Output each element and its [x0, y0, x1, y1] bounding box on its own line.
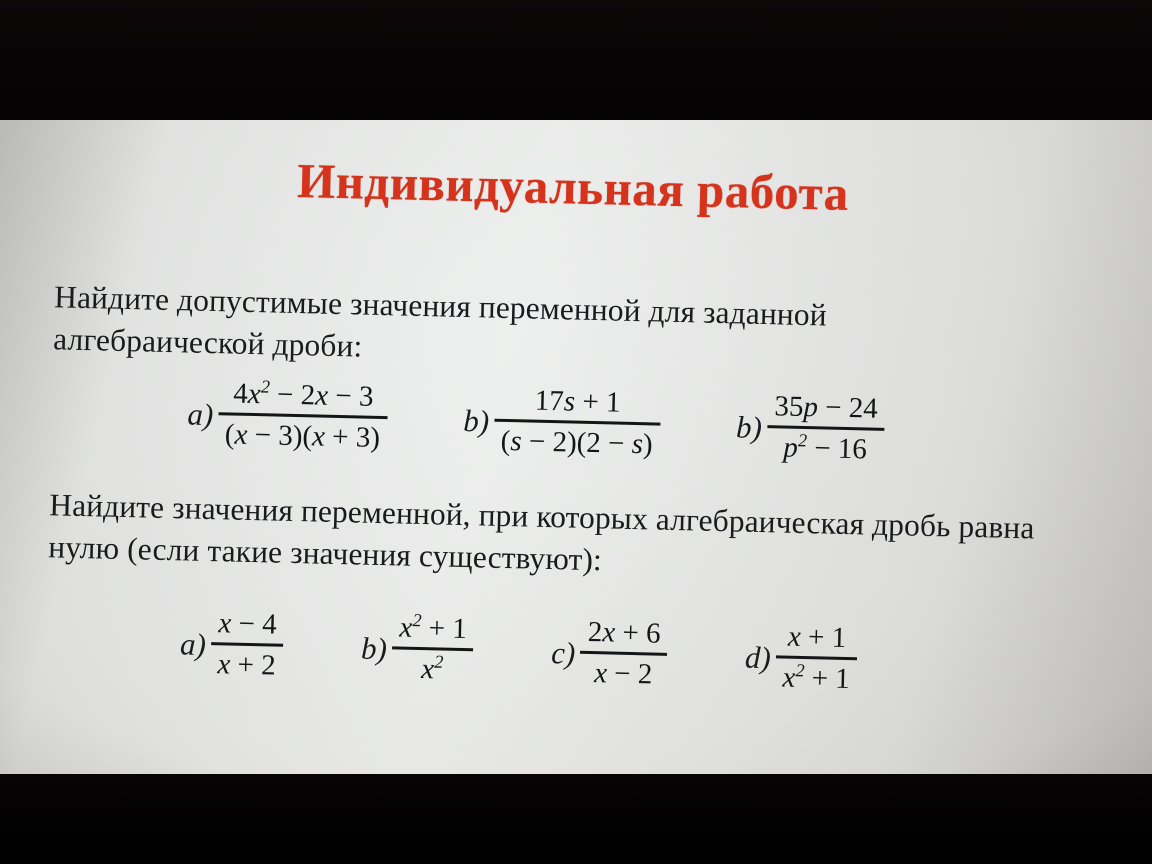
task-1-fraction-a-denominator: (x − 3)(x + 3)	[217, 417, 387, 455]
task-1-fraction-b-denominator: (s − 2)(2 − s)	[493, 423, 660, 461]
task-2-fraction-b-numerator: x2 + 1	[392, 610, 474, 646]
task-2-fraction-a-denominator: x + 2	[210, 647, 283, 683]
task-2-fraction-d: x + 1 x2 + 1	[775, 619, 858, 696]
fraction-bar	[776, 656, 857, 660]
task-2-item-c-label: c)	[551, 632, 576, 673]
task-1-item-b: b) 17s + 1 (s − 2)(2 − s)	[463, 382, 662, 461]
task-1-fraction-c-numerator: 35p − 24	[767, 389, 885, 426]
task-1-item-a: a) 4x2 − 2x − 3 (x − 3)(x + 3)	[187, 375, 389, 455]
photo-dark-bottom-border	[0, 774, 1152, 864]
task-1-item-a-label: a)	[187, 393, 214, 434]
task-1-formula-row: a) 4x2 − 2x − 3 (x − 3)(x + 3) b) 17s + …	[187, 375, 885, 466]
task-2-fraction-b: x2 + 1 x2	[391, 610, 474, 687]
task-1-fraction-b-numerator: 17s + 1	[527, 383, 627, 420]
task-1-fraction-b: 17s + 1 (s − 2)(2 − s)	[493, 383, 661, 462]
task-1-item-c-label: b)	[736, 406, 763, 447]
task-1-instruction: Найдите допустимые значения переменной д…	[53, 276, 1015, 382]
fraction-bar	[211, 642, 283, 646]
task-2-fraction-c-denominator: x − 2	[587, 656, 660, 692]
task-1-fraction-a-numerator: 4x2 − 2x − 3	[226, 376, 381, 414]
task-2-item-a: a) x − 4 x + 2	[179, 605, 284, 682]
task-2-fraction-a-numerator: x − 4	[211, 606, 284, 642]
task-2-fraction-c: 2x + 6 x − 2	[580, 615, 668, 692]
slide-content: Индивидуальная работа Найдите допустимые…	[0, 53, 1152, 860]
task-1-fraction-c-denominator: p2 − 16	[776, 430, 874, 467]
photo-dark-top-border	[0, 0, 1152, 120]
task-1-fraction-c: 35p − 24 p2 − 16	[766, 389, 885, 467]
task-2-item-c: c) 2x + 6 x − 2	[550, 614, 668, 692]
task-2-fraction-c-numerator: 2x + 6	[580, 615, 668, 651]
task-1-item-c: b) 35p − 24 p2 − 16	[735, 388, 885, 466]
task-2-item-a-label: a)	[180, 623, 207, 664]
task-2-formula-row: a) x − 4 x + 2 b) x2 + 1 x2	[179, 605, 858, 696]
task-2-item-b: b) x2 + 1 x2	[360, 610, 474, 687]
task-2-item-d-label: d)	[745, 636, 772, 677]
task-1-fraction-a: 4x2 − 2x − 3 (x − 3)(x + 3)	[217, 376, 388, 455]
fraction-bar	[392, 647, 473, 651]
task-2-fraction-d-denominator: x2 + 1	[775, 660, 857, 696]
task-2-item-d: d) x + 1 x2 + 1	[744, 619, 858, 696]
task-2-fraction-b-denominator: x2	[414, 651, 451, 686]
task-2-item-b-label: b)	[361, 627, 388, 668]
projection-screen: Индивидуальная работа Найдите допустимые…	[0, 52, 1152, 861]
task-1-item-b-label: b)	[463, 399, 490, 440]
task-2-fraction-a: x − 4 x + 2	[210, 606, 284, 683]
task-2-instruction: Найдите значения переменной, при которых…	[48, 484, 1110, 592]
task-2-fraction-d-numerator: x + 1	[781, 620, 854, 656]
page-title: Индивидуальная работа	[0, 145, 1150, 229]
projected-slide-photo: Индивидуальная работа Найдите допустимые…	[0, 0, 1152, 864]
